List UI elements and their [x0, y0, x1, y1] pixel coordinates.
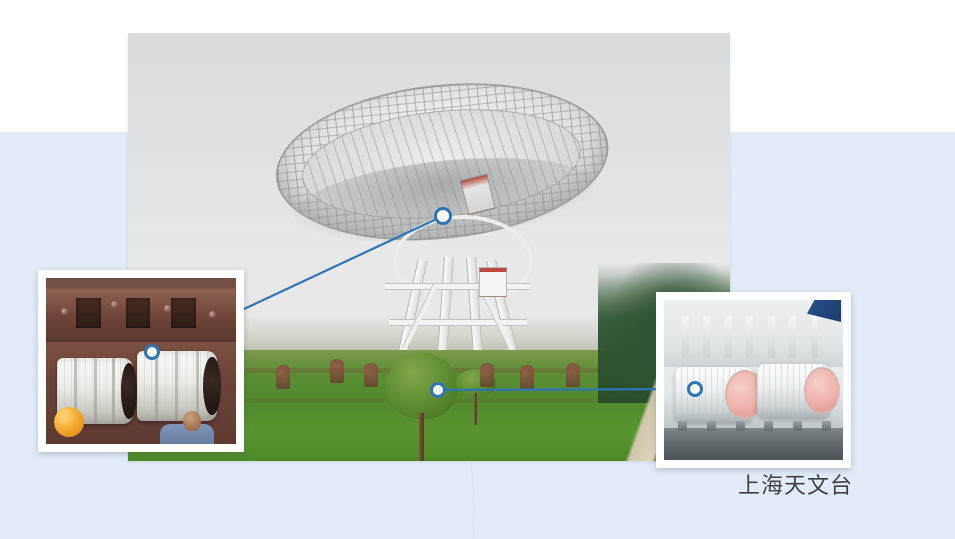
tower-brace: [385, 283, 531, 290]
shrub: [276, 365, 290, 389]
pink-end-cap-right: [804, 367, 840, 414]
tower-brace: [389, 319, 527, 326]
rail-tooth: [822, 421, 831, 431]
machine-fin: [682, 316, 689, 358]
callout-left-photo: [46, 278, 236, 444]
rail-tooth: [707, 421, 716, 431]
rust-bolt: [164, 305, 171, 312]
machine-rail: [664, 428, 843, 460]
rail-tooth: [764, 421, 773, 431]
callout-right-photo: [664, 300, 843, 460]
machine-fin: [789, 316, 796, 358]
tower-equipment-hut: [479, 267, 507, 297]
marker-dish-mount-icon[interactable]: [434, 207, 452, 225]
slide-canvas: 上海天文台: [0, 0, 955, 539]
shrub: [364, 363, 378, 387]
shrub: [520, 365, 534, 389]
machine-fin: [768, 316, 775, 358]
rust-slot: [76, 298, 101, 328]
machine-fin: [746, 316, 753, 358]
marker-old-bearing-icon[interactable]: [144, 344, 160, 360]
rust-slot: [171, 298, 196, 328]
orange-object: [54, 407, 84, 437]
rail-tooth: [736, 421, 745, 431]
shrub: [480, 363, 494, 387]
marker-new-bearing-icon[interactable]: [687, 381, 703, 397]
rust-slot: [126, 298, 151, 328]
rust-bolt: [61, 308, 68, 315]
marker-base-mount-icon[interactable]: [430, 382, 446, 398]
worker-head: [183, 411, 201, 431]
shrub: [330, 359, 344, 383]
machine-fin: [811, 316, 818, 358]
bearing-housing-right: [137, 351, 217, 421]
rail-tooth: [793, 421, 802, 431]
callout-old-bearing-assembly[interactable]: [38, 270, 244, 452]
callout-new-bearing-assembly[interactable]: [656, 292, 851, 468]
rail-tooth: [678, 421, 687, 431]
machine-fin: [725, 316, 732, 358]
machine-fin: [703, 316, 710, 358]
rust-bolt: [111, 301, 118, 308]
page-caption: 上海天文台: [738, 468, 853, 500]
